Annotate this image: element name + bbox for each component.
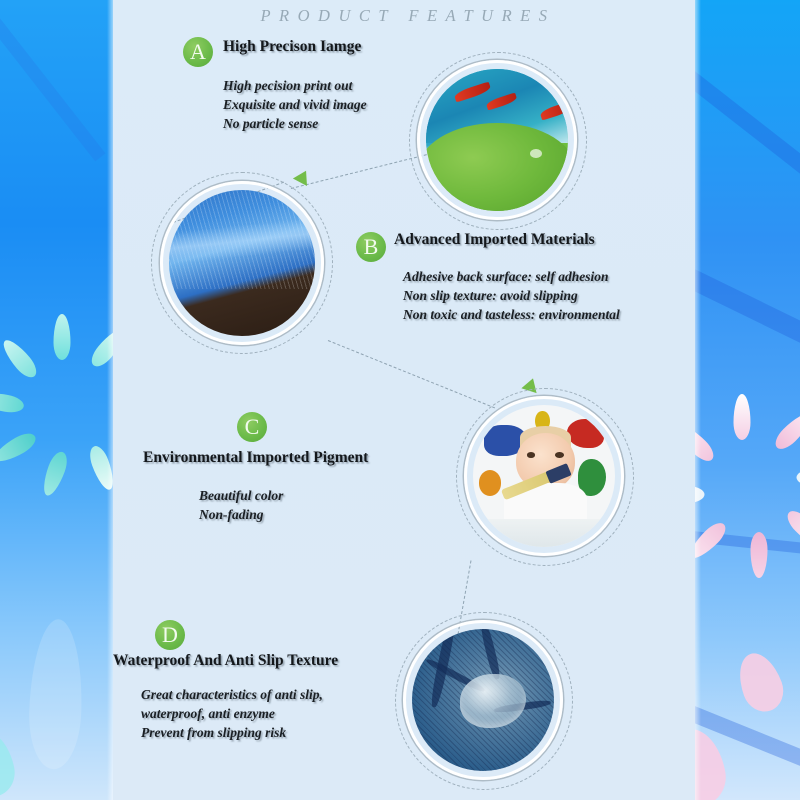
feature-d-lines: Great characteristics of anti slip, wate… xyxy=(141,685,323,742)
diagonal-stripe xyxy=(695,40,800,213)
feature-c-heading: Environmental Imported Pigment xyxy=(143,449,368,467)
feature-b-line-1: Adhesive back surface: self adhesion xyxy=(403,267,620,286)
baby-with-paintbrush-photo xyxy=(473,405,615,547)
right-decorative-band xyxy=(695,0,800,800)
feature-d-image-circle xyxy=(395,612,575,792)
feature-b-line-2: Non slip texture: avoid slipping xyxy=(403,286,620,305)
baby-eye xyxy=(555,452,564,458)
badge-letter-d: D xyxy=(155,620,185,650)
feature-a-line-1: High pecision print out xyxy=(223,76,367,95)
feature-d-line-2: waterproof, anti enzyme xyxy=(141,704,323,723)
left-decorative-band xyxy=(0,0,113,800)
feature-a-line-2: Exquisite and vivid image xyxy=(223,95,367,114)
badge-letter-c: C xyxy=(237,412,267,442)
feature-a-line-3: No particle sense xyxy=(223,114,367,133)
badge-letter-a: A xyxy=(183,37,213,67)
feature-a-image-circle xyxy=(409,52,589,232)
koi-fish-lotus-leaf-photo xyxy=(426,69,568,211)
feature-c-lines: Beautiful color Non-fading xyxy=(199,486,283,524)
feature-d-line-3: Prevent from slipping risk xyxy=(141,723,323,742)
product-features-poster: PRODUCT FEATURES A High Precison Iamge H… xyxy=(0,0,800,800)
feature-a-lines: High pecision print out Exquisite and vi… xyxy=(223,76,367,133)
lotus-leaf xyxy=(426,123,568,211)
feature-d-heading: Waterproof And Anti Slip Texture xyxy=(113,652,338,670)
feature-b-heading: Advanced Imported Materials xyxy=(394,231,595,249)
feature-c-line-1: Beautiful color xyxy=(199,486,283,505)
feature-b-image-circle xyxy=(151,172,336,357)
baby-eye xyxy=(527,452,536,458)
band-edge-highlight xyxy=(695,0,701,800)
diagonal-stripe xyxy=(695,240,800,389)
page-title: PRODUCT FEATURES xyxy=(113,6,695,26)
painted-floor xyxy=(473,519,615,547)
feature-a-heading: High Precison Iamge xyxy=(223,38,361,56)
feature-c-line-2: Non-fading xyxy=(199,505,283,524)
feature-b-line-3: Non toxic and tasteless: environmental xyxy=(403,305,620,324)
water-droplet-texture-photo xyxy=(412,629,554,771)
feature-b-lines: Adhesive back surface: self adhesion Non… xyxy=(403,267,620,324)
content-panel: PRODUCT FEATURES A High Precison Iamge H… xyxy=(113,0,695,800)
feature-c-image-circle xyxy=(456,388,636,568)
paint-splatter xyxy=(567,419,604,447)
paint-splatter xyxy=(479,470,502,496)
badge-letter-b: B xyxy=(356,232,386,262)
blue-woven-fabric-photo xyxy=(169,190,315,336)
diagonal-stripe xyxy=(0,0,105,161)
feature-d-line-1: Great characteristics of anti slip, xyxy=(141,685,323,704)
